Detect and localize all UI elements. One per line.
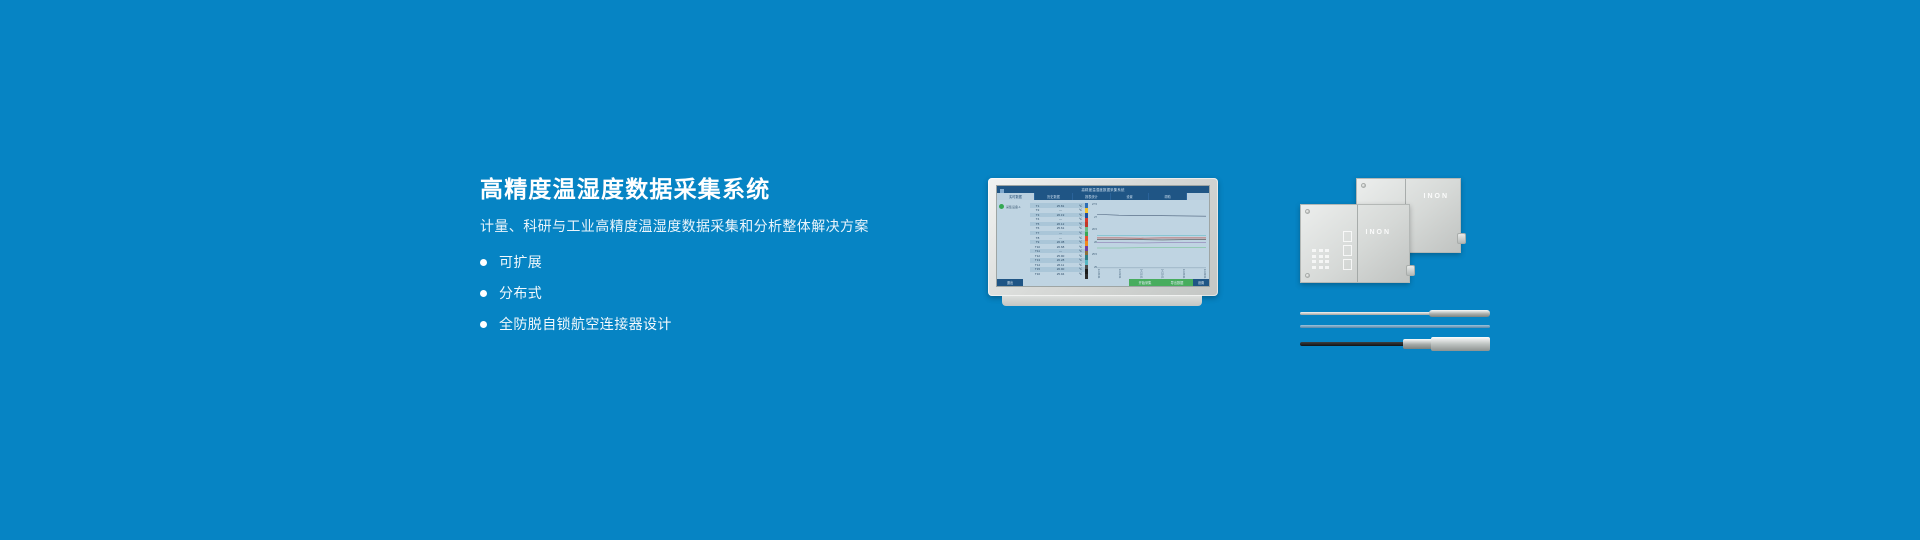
sidebar-item-device-1[interactable]: 采集设备-1 — [999, 204, 1028, 209]
chart-plot — [1097, 203, 1206, 268]
app-title: 高精度温湿度数据采集系统 — [1081, 187, 1124, 192]
tab-filler — [1187, 193, 1209, 200]
button-filler — [1023, 279, 1129, 286]
start-capture-button[interactable]: 开始采集 — [1129, 279, 1161, 286]
screw-icon — [1361, 183, 1366, 188]
blue-cable-probe — [1300, 325, 1490, 329]
y-tick-label: 26 — [1094, 241, 1097, 244]
probe-cable — [1300, 325, 1490, 328]
y-tick-label: 27.5 — [1092, 203, 1097, 206]
display-graphic — [1343, 231, 1352, 273]
bullet-icon — [480, 321, 487, 328]
monitor-screen: 高精度温湿度数据采集系统 实时数据 历史数据 报表统计 设置 帮助 采集设备-1… — [996, 185, 1210, 287]
brand-label: INON — [1424, 193, 1450, 200]
settings-button[interactable]: 设置 — [1193, 279, 1209, 286]
chart-y-axis: 27.52726.52625.525 — [1088, 203, 1097, 268]
feature-label: 可扩展 — [499, 252, 542, 272]
channel-unit: ℃ — [1076, 272, 1085, 276]
tab-history[interactable]: 历史数据 — [1035, 193, 1073, 200]
connector-port — [1406, 265, 1415, 276]
channel-value: 25.94 — [1045, 272, 1076, 276]
device-sidebar: 采集设备-1 — [997, 200, 1030, 278]
probe-connector — [1403, 339, 1433, 349]
tab-report[interactable]: 报表统计 — [1073, 193, 1111, 200]
data-acquisition-modules: INON INON — [1300, 178, 1490, 283]
hero-banner: 高精度温湿度数据采集系统 计量、科研与工业高精度温湿度数据采集和分析整体解决方案… — [0, 0, 1920, 540]
sidebar-item-label: 采集设备-1 — [1006, 205, 1021, 209]
probe-tip — [1429, 310, 1490, 317]
list-item: 分布式 — [480, 283, 900, 303]
list-item: 可扩展 — [480, 252, 900, 272]
feature-label: 全防脱自锁航空连接器设计 — [499, 314, 672, 334]
chart-series-T12 — [1097, 248, 1206, 249]
screw-icon — [1305, 273, 1310, 278]
screw-icon — [1305, 209, 1310, 214]
x-tick-label: 14:23:01 — [1203, 269, 1206, 279]
channel-table[interactable]: T125.81℃T2---℃T326.19℃T4---℃T526.12℃T625… — [1030, 200, 1085, 278]
monitor-base — [1002, 295, 1202, 306]
probe-shaft — [1300, 312, 1437, 315]
connector-port — [1457, 233, 1466, 244]
y-tick-label: 27 — [1094, 216, 1097, 219]
probe-cable — [1300, 342, 1406, 346]
tab-realtime[interactable]: 实时数据 — [997, 193, 1035, 200]
export-data-button[interactable]: 导出数据 — [1161, 279, 1193, 286]
brand-label: INON — [1366, 229, 1392, 236]
panel-pc-monitor: 高精度温湿度数据采集系统 实时数据 历史数据 报表统计 设置 帮助 采集设备-1… — [988, 178, 1218, 296]
status-online-icon — [999, 204, 1004, 209]
x-tick-label: 14:22:01 — [1161, 269, 1164, 279]
chart-x-axis: 14:20:3114:21:0114:21:3114:22:0114:22:31… — [1097, 269, 1206, 279]
keypad-graphic — [1312, 249, 1338, 271]
table-row[interactable]: T1625.94℃ — [1030, 272, 1085, 277]
page-subtitle: 计量、科研与工业高精度温湿度数据采集和分析整体解决方案 — [480, 217, 900, 237]
x-tick-label: 14:20:31 — [1097, 269, 1100, 279]
x-tick-label: 14:21:01 — [1118, 269, 1121, 279]
chart-series-T1 — [1097, 215, 1206, 217]
hero-copy-block: 高精度温湿度数据采集系统 计量、科研与工业高精度温湿度数据采集和分析整体解决方案… — [480, 175, 900, 345]
x-tick-label: 14:21:31 — [1139, 269, 1142, 279]
action-button-bar: 退出 开始采集 导出数据 设置 — [997, 279, 1209, 286]
window-icon — [1000, 189, 1004, 193]
probe-body — [1431, 337, 1490, 351]
x-tick-label: 14:22:31 — [1182, 269, 1185, 279]
realtime-chart: 27.52726.52625.525 14:20:3114:21:0114:21… — [1088, 200, 1209, 278]
panel-seam — [1357, 205, 1358, 282]
tab-bar: 实时数据 历史数据 报表统计 设置 帮助 — [997, 193, 1209, 200]
page-title: 高精度温湿度数据采集系统 — [480, 175, 900, 204]
tab-help[interactable]: 帮助 — [1149, 193, 1187, 200]
bullet-icon — [480, 290, 487, 297]
y-tick-label: 26.5 — [1092, 228, 1097, 231]
feature-label: 分布式 — [499, 283, 542, 303]
feature-list: 可扩展 分布式 全防脱自锁航空连接器设计 — [480, 252, 900, 334]
tab-settings[interactable]: 设置 — [1111, 193, 1149, 200]
channel-label: T16 — [1030, 272, 1045, 276]
list-item: 全防脱自锁航空连接器设计 — [480, 314, 900, 334]
stainless-probe — [1300, 310, 1490, 317]
y-tick-label: 25.5 — [1092, 253, 1097, 256]
app-titlebar: 高精度温湿度数据采集系统 — [997, 186, 1209, 193]
app-workspace: 采集设备-1 T125.81℃T2---℃T326.19℃T4---℃T526.… — [997, 200, 1209, 278]
exit-button[interactable]: 退出 — [997, 279, 1023, 286]
module-unit-front: INON — [1300, 204, 1410, 283]
temperature-humidity-probes — [1300, 306, 1490, 358]
black-cable-probe — [1300, 337, 1490, 351]
bullet-icon — [480, 259, 487, 266]
